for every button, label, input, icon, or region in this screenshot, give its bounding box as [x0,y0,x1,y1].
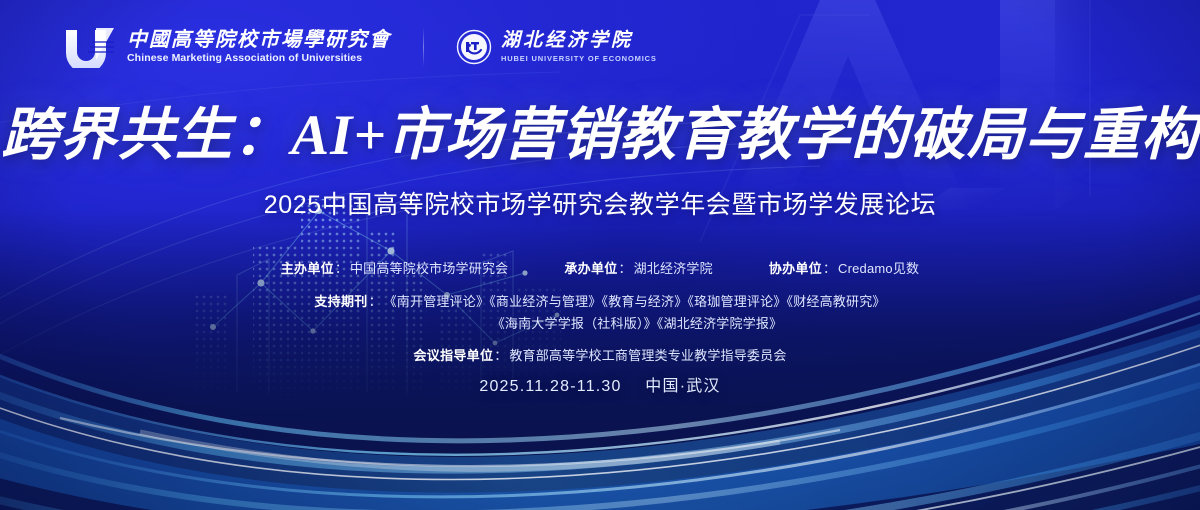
credit-organizer-label: 承办单位 [564,258,617,279]
hbue-name-cn: 湖北经济学院 [501,30,657,51]
event-date-location: 2025.11.28-11.30 中国·武汉 [0,372,1200,396]
hbue-logo-text: 湖北经济学院 HUBEI UNIVERSITY OF ECONOMICS [501,30,657,64]
credit-host: 主办单位 ： 中国高等院校市场学研究会 [281,258,509,279]
credit-host-value: 中国高等院校市场学研究会 [350,258,508,279]
logo-divider [423,27,424,67]
journals-row-1: 支持期刊 ： 《南开管理评论》《商业经济与管理》《教育与经济》《珞珈管理评论》《… [0,291,1200,312]
cmau-name-cn: 中國高等院校市場學研究會 [127,29,391,51]
guidance-row: 会议指导单位 ： 教育部高等学校工商管理类专业教学指导委员会 [0,345,1200,366]
logo-row: 中國高等院校市場學研究會 Chinese Marketing Associati… [62,26,657,68]
journals-line-2: 《海南大学学报（社科版）》《湖北经济学院学报》 [418,313,783,334]
event-location: 中国·武汉 [645,378,720,395]
organizers-row: 主办单位 ： 中国高等院校市场学研究会 承办单位 ： 湖北经济学院 协办单位 ：… [0,258,1200,279]
credit-coorganizer-sep: ： [823,258,836,279]
credit-host-sep: ： [335,258,348,279]
cmau-logo-text: 中國高等院校市場學研究會 Chinese Marketing Associati… [127,29,391,65]
cmau-logo-icon [62,26,118,68]
guidance-sep: ： [494,345,507,366]
logo-cmau: 中國高等院校市場學研究會 Chinese Marketing Associati… [62,26,391,68]
credit-organizer-value: 湖北经济学院 [634,258,713,279]
credit-organizer: 承办单位 ： 湖北经济学院 [564,258,712,279]
credit-organizer-sep: ： [619,258,632,279]
guidance-value: 教育部高等学校工商管理类专业教学指导委员会 [509,345,786,366]
credit-coorganizer: 协办单位 ： Credamo见数 [769,258,920,279]
hbue-name-en: HUBEI UNIVERSITY OF ECONOMICS [501,53,657,64]
credit-coorganizer-value: Credamo见数 [838,258,919,279]
main-title: 跨界共生：AI+市场营销教育教学的破局与重构 [0,103,1200,169]
logo-hbue: 湖北经济学院 HUBEI UNIVERSITY OF ECONOMICS [456,29,657,65]
subtitle: 2025中国高等院校市场学研究会教学年会暨市场学发展论坛 [0,190,1200,220]
credit-coorganizer-label: 协办单位 [769,258,822,279]
journals-sep: ： [369,291,382,312]
banner-content: 中國高等院校市場學研究會 Chinese Marketing Associati… [0,0,1200,510]
event-dates: 2025.11.28-11.30 [479,378,621,395]
credits-block: 主办单位 ： 中国高等院校市场学研究会 承办单位 ： 湖北经济学院 协办单位 ：… [0,258,1200,366]
guidance-label: 会议指导单位 [413,345,493,366]
journals-label: 支持期刊 [314,291,367,312]
hbue-seal-icon [456,29,492,65]
credit-host-label: 主办单位 [281,258,334,279]
cmau-name-en: Chinese Marketing Association of Univers… [127,52,391,65]
journals-line-1: 《南开管理评论》《商业经济与管理》《教育与经济》《珞珈管理评论》《财经高教研究》 [384,291,886,312]
journals-row-2: 《海南大学学报（社科版）》《湖北经济学院学报》 [0,313,1200,334]
conference-banner: 中國高等院校市場學研究會 Chinese Marketing Associati… [0,0,1200,510]
